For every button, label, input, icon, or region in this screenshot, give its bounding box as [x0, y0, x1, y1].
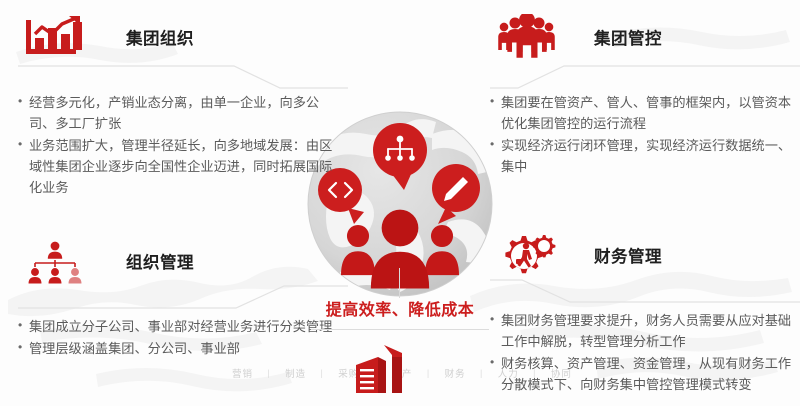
list-item: 业务范围扩大，管理半径延长，向多地域发展：由区域性集团企业逐步向全国性企业迈进，…: [18, 135, 336, 198]
bar-chart-growth-icon: [18, 11, 92, 63]
department-label: 营销: [232, 366, 253, 380]
center-slogan: 提高效率、降低成本: [300, 296, 500, 320]
list-item: 经营多元化，产销业态分离，由单一企业，向多公司、多工厂扩张: [18, 92, 336, 134]
section-title: 集团管控: [594, 25, 662, 49]
section-organization-management: 组织管理 集团成立分子公司、事业部对经营业务进行分类管理 管理层级涵盖集团、分公…: [18, 232, 348, 360]
people-group-icon: [490, 11, 564, 63]
org-chart-bubble-icon: [373, 123, 427, 190]
bullet-list: 集团财务管理要求提升，财务人员需要从应对基础工作中解脱，转型管理分析工作 财务核…: [490, 310, 798, 395]
department-label: 协同: [551, 366, 572, 380]
list-item: 管理层级涵盖集团、分公司、事业部: [18, 338, 336, 359]
separator: |: [533, 368, 536, 378]
section-group-control: 集团管控 集团要在管资产、管人、管事的框架内，以管资本优化集团管控的运行流程 实…: [490, 8, 800, 178]
globe-stem: [399, 268, 400, 298]
department-label: 人力: [498, 366, 519, 380]
section-divider: [490, 280, 800, 306]
list-item: 集团要在管资产、管人、管事的框架内，以管资本优化集团管控的运行流程: [490, 92, 798, 134]
list-item: 实现经济运行闭环管理，实现经济运行数据统一、集中: [490, 135, 798, 177]
section-header: 集团管控: [490, 8, 800, 66]
separator: |: [267, 368, 270, 378]
department-label: 财务: [445, 366, 466, 380]
section-title: 集团组织: [126, 25, 194, 49]
list-item: 集团成立分子公司、事业部对经营业务进行分类管理: [18, 316, 336, 337]
bullet-list: 经营多元化，产销业态分离，由单一企业，向多公司、多工厂扩张 业务范围扩大，管理半…: [18, 92, 336, 198]
infographic-canvas: 集团组织 经营多元化，产销业态分离，由单一企业，向多公司、多工厂扩张 业务范围扩…: [0, 0, 800, 406]
section-header: 集团组织: [18, 8, 348, 66]
section-title: 财务管理: [594, 243, 662, 267]
list-item: 集团财务管理要求提升，财务人员需要从应对基础工作中解脱，转型管理分析工作: [490, 310, 798, 352]
pencil-bubble-icon: [432, 164, 480, 224]
section-title: 组织管理: [126, 249, 194, 273]
separator: |: [427, 368, 430, 378]
office-building-icon: [348, 343, 412, 395]
slogan-underline: [311, 329, 489, 330]
section-divider: [18, 62, 348, 88]
bullet-list: 集团成立分子公司、事业部对经营业务进行分类管理 管理层级涵盖集团、分公司、事业部: [18, 316, 336, 359]
section-group-organization: 集团组织 经营多元化，产销业态分离，由单一企业，向多公司、多工厂扩张 业务范围扩…: [18, 8, 348, 199]
gear-businessman-icon: [490, 229, 564, 281]
section-divider: [18, 286, 348, 312]
bullet-list: 集团要在管资产、管人、管事的框架内，以管资本优化集团管控的运行流程 实现经济运行…: [490, 92, 798, 177]
section-header: 组织管理: [18, 232, 348, 290]
center-slogan-block: 提高效率、降低成本: [300, 296, 500, 330]
separator: |: [480, 368, 483, 378]
section-divider: [490, 62, 800, 88]
department-label: 制造: [285, 366, 306, 380]
separator: |: [321, 368, 324, 378]
org-chart-icon: [18, 235, 92, 287]
section-header: 财务管理: [490, 226, 800, 284]
